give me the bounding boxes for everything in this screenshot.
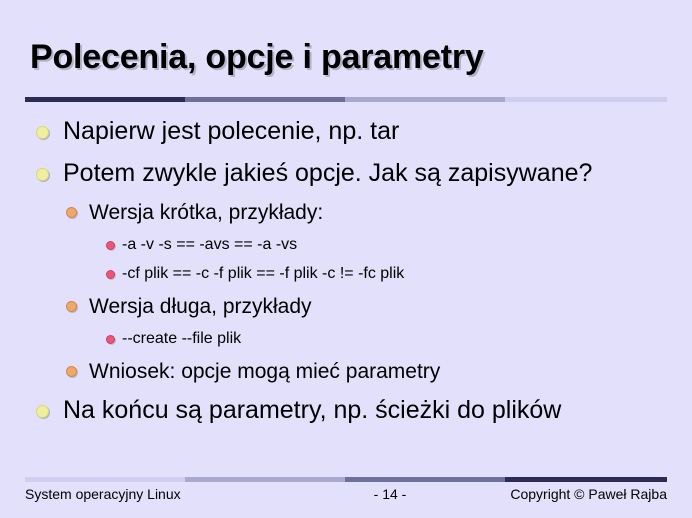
list-item-label: Wersja długa, przykłady	[89, 295, 312, 318]
list-item: Napierw jest polecenie, np. tar	[0, 110, 692, 152]
bullet-level2-icon	[66, 301, 77, 312]
list-item-label: Potem zwykle jakieś opcje. Jak są zapisy…	[63, 160, 592, 187]
list-item: Na końcu są parametry, np. ścieżki do pl…	[0, 389, 692, 431]
list-item-label: -a -v -s == -avs == -a -vs	[122, 236, 297, 254]
footer-divider-rule	[25, 477, 667, 482]
footer-course-label: System operacyjny Linux	[25, 486, 345, 502]
bullet-level2-icon	[66, 207, 77, 218]
rule-segment-4	[505, 477, 667, 482]
bullet-level1-icon	[36, 126, 49, 139]
bullet-list: Napierw jest polecenie, np. tar Potem zw…	[0, 110, 692, 431]
bullet-level3-icon	[106, 270, 115, 279]
rule-segment-3	[345, 97, 505, 102]
list-item-label: Napierw jest polecenie, np. tar	[63, 118, 399, 145]
rule-segment-4	[505, 97, 667, 102]
slide-footer: System operacyjny Linux - 14 - Copyright…	[25, 486, 667, 502]
list-item-label: Wniosek: opcje mogą mieć parametry	[89, 360, 440, 383]
rule-segment-2	[185, 97, 345, 102]
bullet-level1-icon	[36, 405, 49, 418]
list-item-label: Wersja krótka, przykłady:	[89, 201, 323, 224]
footer-copyright: Copyright © Paweł Rajba	[435, 486, 667, 502]
bullet-level3-icon	[106, 241, 115, 250]
bullet-level2-icon	[66, 366, 77, 377]
list-item: Wersja długa, przykłady	[0, 288, 692, 324]
list-item-label: --create --file plik	[122, 330, 241, 348]
list-item: -cf plik == -c -f plik == -f plik -c != …	[0, 259, 692, 288]
list-item: -a -v -s == -avs == -a -vs	[0, 230, 692, 259]
rule-segment-1	[25, 97, 185, 102]
rule-segment-3	[345, 477, 505, 482]
rule-segment-2	[185, 477, 345, 482]
list-item: Potem zwykle jakieś opcje. Jak są zapisy…	[0, 152, 692, 194]
bullet-level1-icon	[36, 168, 49, 181]
bullet-level3-icon	[106, 335, 115, 344]
slide-title: Polecenia, opcje i parametry	[30, 38, 484, 77]
list-item: Wersja krótka, przykłady:	[0, 194, 692, 230]
title-divider-rule	[25, 97, 667, 102]
footer-page-number: - 14 -	[345, 486, 435, 502]
list-item: --create --file plik	[0, 324, 692, 353]
list-item-label: -cf plik == -c -f plik == -f plik -c != …	[122, 265, 404, 283]
list-item: Wniosek: opcje mogą mieć parametry	[0, 353, 692, 389]
rule-segment-1	[25, 477, 185, 482]
list-item-label: Na końcu są parametry, np. ścieżki do pl…	[63, 397, 561, 424]
slide: Polecenia, opcje i parametry Napierw jes…	[0, 0, 692, 518]
